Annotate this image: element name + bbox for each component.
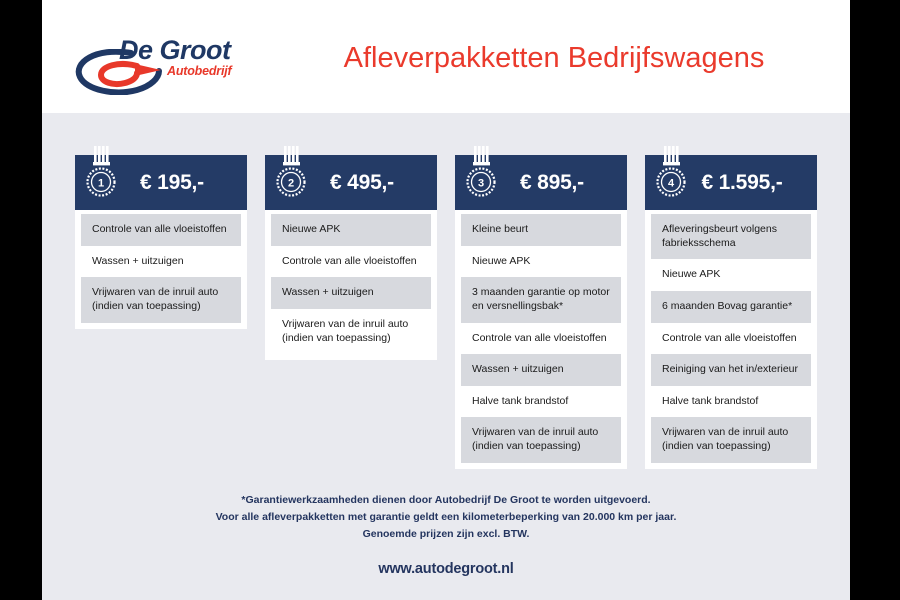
- package-feature: Vrijwaren van de inruil auto (indien van…: [651, 417, 811, 462]
- package-card: 1€ 195,-Controle van alle vloeistoffenWa…: [75, 155, 247, 469]
- website-link[interactable]: www.autodegroot.nl: [42, 561, 850, 577]
- package-header: 4€ 1.595,-: [645, 155, 817, 210]
- letterbox-right: [850, 0, 900, 600]
- package-feature: Wassen + uitzuigen: [271, 277, 431, 309]
- package-feature: Vrijwaren van de inruil auto (indien van…: [271, 309, 431, 354]
- package-header: 3€ 895,-: [455, 155, 627, 210]
- package-feature: Vrijwaren van de inruil auto (indien van…: [461, 417, 621, 462]
- logo-wordmark: De Groot: [119, 35, 231, 66]
- package-feature: Nieuwe APK: [651, 259, 811, 291]
- package-header: 2€ 495,-: [265, 155, 437, 210]
- letterbox-left: [0, 0, 42, 600]
- svg-text:2: 2: [288, 178, 294, 190]
- medal-icon: 3: [464, 146, 498, 204]
- package-card: 2€ 495,-Nieuwe APKControle van alle vloe…: [265, 155, 437, 469]
- package-card: 3€ 895,-Kleine beurtNieuwe APK3 maanden …: [455, 155, 627, 469]
- medal-icon: 1: [84, 146, 118, 204]
- package-cards: 1€ 195,-Controle van alle vloeistoffenWa…: [42, 155, 850, 469]
- footer: *Garantiewerkzaamheden dienen door Autob…: [42, 492, 850, 577]
- package-feature: Wassen + uitzuigen: [81, 246, 241, 278]
- package-feature: Afleveringsbeurt volgens fabrieksschema: [651, 214, 811, 259]
- svg-text:1: 1: [98, 178, 104, 190]
- header-band: De Groot Autobedrijf Afleverpakketten Be…: [42, 0, 850, 113]
- screenshot-stage: De Groot Autobedrijf Afleverpakketten Be…: [0, 0, 900, 600]
- package-feature: Halve tank brandstof: [651, 386, 811, 418]
- package-feature: Kleine beurt: [461, 214, 621, 246]
- package-feature: Nieuwe APK: [271, 214, 431, 246]
- page-title: Afleverpakketten Bedrijfswagens: [274, 42, 834, 75]
- package-feature: 6 maanden Bovag garantie*: [651, 291, 811, 323]
- package-feature: Controle van alle vloeistoffen: [461, 323, 621, 355]
- package-feature-list: Controle van alle vloeistoffenWassen + u…: [75, 210, 247, 329]
- svg-text:4: 4: [668, 178, 675, 190]
- package-feature: Vrijwaren van de inruil auto (indien van…: [81, 277, 241, 322]
- package-feature-list: Kleine beurtNieuwe APK3 maanden garantie…: [455, 210, 627, 469]
- company-logo: De Groot Autobedrijf: [75, 33, 275, 95]
- package-feature: Controle van alle vloeistoffen: [81, 214, 241, 246]
- package-feature: Halve tank brandstof: [461, 386, 621, 418]
- medal-icon: 4: [654, 146, 688, 204]
- medal-icon: 2: [274, 146, 308, 204]
- footer-line: Voor alle afleverpakketten met garantie …: [42, 509, 850, 526]
- package-feature-list: Nieuwe APKControle van alle vloeistoffen…: [265, 210, 437, 360]
- package-feature: Controle van alle vloeistoffen: [651, 323, 811, 355]
- package-feature: Controle van alle vloeistoffen: [271, 246, 431, 278]
- package-feature: Reiniging van het in/exterieur: [651, 354, 811, 386]
- footer-line: Genoemde prijzen zijn excl. BTW.: [42, 526, 850, 543]
- package-feature-list: Afleveringsbeurt volgens fabrieksschemaN…: [645, 210, 817, 469]
- flyer-sheet: De Groot Autobedrijf Afleverpakketten Be…: [42, 0, 850, 600]
- package-header: 1€ 195,-: [75, 155, 247, 210]
- package-card: 4€ 1.595,-Afleveringsbeurt volgens fabri…: [645, 155, 817, 469]
- package-feature: 3 maanden garantie op motor en versnelli…: [461, 277, 621, 322]
- package-feature: Wassen + uitzuigen: [461, 354, 621, 386]
- package-feature: Nieuwe APK: [461, 246, 621, 278]
- logo-tagline: Autobedrijf: [167, 64, 231, 78]
- footer-line: *Garantiewerkzaamheden dienen door Autob…: [42, 492, 850, 509]
- svg-text:3: 3: [478, 178, 484, 190]
